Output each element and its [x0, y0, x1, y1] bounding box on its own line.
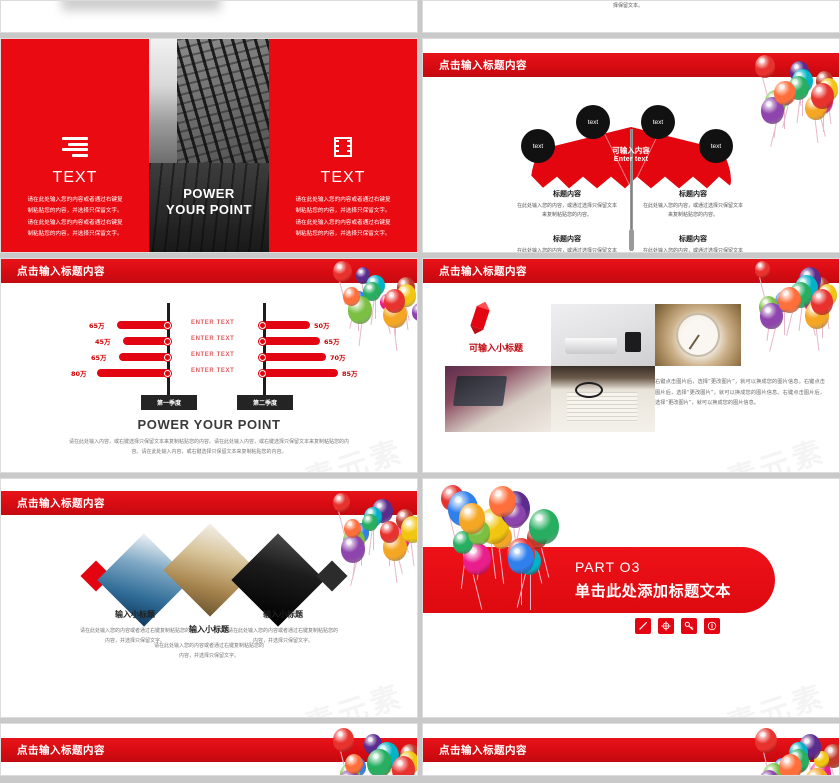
- cover-left-column: TEXT 请在此处输入您的内容或者通过右键复制粘贴您的内容，并选择只保留文字。请…: [1, 39, 149, 252]
- slide-thumbnail-diamond-gallery[interactable]: 点击输入标题内容 输入小标题 请在此处输入您的内容或者通过右键复制粘贴您的内容，…: [0, 478, 418, 718]
- watermark: 素元素: [720, 426, 831, 473]
- accent-diamond-dark: [316, 560, 347, 591]
- target-icon[interactable]: [658, 618, 674, 634]
- slide-title: 点击输入标题内容: [439, 743, 527, 758]
- mosaic-subtitle: 可输入小标题: [441, 341, 551, 354]
- slide-title: 点击输入标题内容: [439, 264, 527, 279]
- slide-thumbnail-partial-bottom-left[interactable]: 点击输入标题内容: [0, 723, 418, 776]
- umbrella-item-body: 在此处输入您的内容，或通过选择只保留文本来复制粘贴您的内容。: [515, 202, 619, 221]
- umbrella-item-title: 标题内容: [515, 189, 619, 199]
- diamond-body: 请在此处输入您的内容或者通过右键复制粘贴您的内容，并选择只保留文字。: [227, 626, 339, 646]
- partial-body-text: 择保留文本。: [613, 2, 643, 9]
- umbrella-item: 标题内容 在此处输入您的内容，或通过选择只保留文本来复制粘贴您的内容。: [515, 234, 619, 253]
- film-strip-icon: [330, 137, 356, 157]
- text-bubble[interactable]: text: [521, 129, 555, 163]
- umbrella-graphic: 可输入内容 Enter text: [423, 77, 839, 253]
- chart-bar: [266, 337, 320, 345]
- building-photo: [149, 39, 269, 252]
- blurred-content: [61, 0, 221, 11]
- slide-thumbnail-photo-mosaic[interactable]: 点击输入标题内容 可输入小标题 右键点击图片后，选择“更改图片”，就可以换成您的…: [422, 258, 840, 473]
- slide-title: 点击输入标题内容: [17, 496, 105, 511]
- building-facade: [177, 39, 269, 171]
- chart-node: [164, 354, 171, 361]
- slide-title: 点击输入标题内容: [17, 743, 105, 758]
- diamond-title: 输入小标题: [227, 609, 339, 620]
- chart-bar: [117, 321, 169, 329]
- umbrella-item: 标题内容 在此处输入您的内容，或通过选择只保留文本来复制粘贴您的内容。: [641, 189, 745, 221]
- chart-bar: [266, 321, 310, 329]
- chart-node: [259, 370, 266, 377]
- text-bubble[interactable]: text: [641, 105, 675, 139]
- umbrella-item: 标题内容 在此处输入您的内容，或通过选择只保留文本来复制粘贴您的内容。: [515, 189, 619, 221]
- slide-thumbnail-section-divider[interactable]: PART O3 单击此处添加标题文本 素元素: [422, 478, 840, 718]
- pencil-icon[interactable]: [635, 618, 651, 634]
- diamond-caption: 输入小标题 请在此处输入您的内容或者通过右键复制粘贴您的内容，并选择只保留文字。: [227, 609, 339, 646]
- chart-value-label: 65万: [89, 320, 105, 330]
- chart-axis-right: [263, 303, 266, 395]
- chart-axis-left: [167, 303, 170, 395]
- chart-bar: [97, 369, 169, 377]
- photo-clock: [655, 304, 741, 366]
- pencil-icon: [464, 298, 495, 337]
- umbrella-item-body: 在此处输入您的内容，或通过选择只保留文本来复制粘贴您的内容。: [641, 202, 745, 221]
- slide-thumbnail-partial-bottom-right[interactable]: 点击输入标题内容: [422, 723, 840, 776]
- diamond-title: 输入小标题: [79, 609, 191, 620]
- chart-value-label: 65万: [324, 336, 340, 346]
- umbrella-center-label: 可输入内容 Enter text: [612, 145, 650, 163]
- section-icon-row: [635, 618, 720, 634]
- chart-series-label: 第二季度: [237, 395, 293, 410]
- umbrella-label-cn: 可输入内容: [612, 145, 650, 156]
- slide-title-bar: 点击输入标题内容: [1, 738, 417, 762]
- stacked-bars-icon: [62, 137, 88, 157]
- chart-area: 第一季度 第二季度 65万 45万 65万 80万 ENTER TEXT ENT…: [1, 303, 417, 411]
- cover-center-title: POWER YOUR POINT: [149, 186, 269, 219]
- slide-thumbnail-partial-left[interactable]: [0, 0, 418, 33]
- umbrella-item-title: 标题内容: [641, 189, 745, 199]
- section-part-number: PART O3: [575, 559, 640, 575]
- umbrella-item-body: 在此处输入您的内容，或通过选择只保留文本来复制粘贴您的内容。: [515, 247, 619, 253]
- slide-title-bar: 点击输入标题内容: [1, 259, 417, 283]
- cover-right-body: 请在此处输入您的内容或者通过右键复制粘贴您的内容，并选择只保留文字。请在此处输入…: [295, 195, 391, 241]
- chart-category-label: ENTER TEXT: [191, 352, 234, 358]
- photo-workspace: [445, 366, 551, 432]
- mosaic-body-text: 右键点击图片后，选择“更改图片”，就可以换成您的图片信息。右键点击图片后，选择“…: [655, 377, 825, 409]
- chart-category-label: ENTER TEXT: [191, 368, 234, 374]
- chart-category-label: ENTER TEXT: [191, 320, 234, 326]
- chart-node: [164, 322, 171, 329]
- chart-value-label: 50万: [314, 320, 330, 330]
- chart-value-label: 70万: [330, 352, 346, 362]
- cover-title-line2: YOUR POINT: [149, 202, 269, 218]
- photo-desk-laptop: [551, 304, 655, 366]
- text-bubble[interactable]: text: [576, 105, 610, 139]
- umbrella-item-title: 标题内容: [515, 234, 619, 244]
- slide-gallery: 择保留文本。 POWER YOUR POINT TEXT 请在此处输入您的内容或…: [0, 0, 840, 783]
- chart-bar: [266, 353, 326, 361]
- chart-node: [164, 370, 171, 377]
- cover-right-heading: TEXT: [269, 169, 417, 187]
- umbrella-grip: [629, 229, 634, 251]
- chart-footer-body: 请在此处输入内容，或右键选择只保留文本来复制粘贴您的内容。请在此处输入内容，或右…: [65, 437, 353, 457]
- slide-title-bar: 点击输入标题内容: [423, 259, 839, 283]
- chart-bar: [123, 337, 169, 345]
- chart-node: [259, 338, 266, 345]
- key-icon[interactable]: [681, 618, 697, 634]
- chart-series-label: 第一季度: [141, 395, 197, 410]
- chart-value-label: 45万: [95, 336, 111, 346]
- chart-category-label: ENTER TEXT: [191, 336, 234, 342]
- slide-title-bar: 点击输入标题内容: [423, 738, 839, 762]
- slide-thumbnail-partial-right[interactable]: 择保留文本。: [422, 0, 840, 33]
- cover-title-line1: POWER: [149, 186, 269, 202]
- chart-value-label: 65万: [91, 352, 107, 362]
- photo-book-glasses: [551, 366, 655, 432]
- slide-title-bar: 点击输入标题内容: [423, 53, 839, 77]
- chart-bar: [119, 353, 169, 361]
- text-bubble[interactable]: text: [699, 129, 733, 163]
- chart-footer-title: POWER YOUR POINT: [1, 417, 417, 432]
- slide-title-bar: 点击输入标题内容: [1, 491, 417, 515]
- umbrella-item-title: 标题内容: [641, 234, 745, 244]
- slide-thumbnail-bar-chart[interactable]: 点击输入标题内容 第一季度 第二季度 65万 45万 65万 80万 ENTER…: [0, 258, 418, 473]
- chart-bar: [266, 369, 338, 377]
- watermark: 素元素: [720, 671, 831, 718]
- watermark: 素元素: [298, 671, 409, 718]
- umbrella-item: 标题内容 在此处输入您的内容，或通过选择只保留文本来复制粘贴您的内容。: [641, 234, 745, 253]
- umbrella-label-en: Enter text: [612, 156, 650, 163]
- slide-thumbnail-umbrella[interactable]: 点击输入标题内容 可输入内容 Enter text text text text…: [422, 38, 840, 253]
- cover-left-body: 请在此处输入您的内容或者通过右键复制粘贴您的内容，并选择只保留文字。请在此处输入…: [27, 195, 123, 241]
- chart-node: [259, 322, 266, 329]
- umbrella-item-body: 在此处输入您的内容，或通过选择只保留文本来复制粘贴您的内容。: [641, 247, 745, 253]
- slide-thumbnail-cover[interactable]: POWER YOUR POINT TEXT 请在此处输入您的内容或者通过右键复制…: [0, 38, 418, 253]
- chart-node: [259, 354, 266, 361]
- section-part-title: 单击此处添加标题文本: [575, 580, 731, 601]
- cover-left-heading: TEXT: [1, 169, 149, 187]
- slide-title: 点击输入标题内容: [17, 264, 105, 279]
- slide-title: 点击输入标题内容: [439, 58, 527, 73]
- chart-node: [164, 338, 171, 345]
- chart-value-label: 80万: [71, 368, 87, 378]
- cover-right-column: TEXT 请在此处输入您的内容或者通过右键复制粘贴您的内容，并选择只保留文字。请…: [269, 39, 417, 252]
- chart-value-label: 85万: [342, 368, 358, 378]
- info-icon[interactable]: [704, 618, 720, 634]
